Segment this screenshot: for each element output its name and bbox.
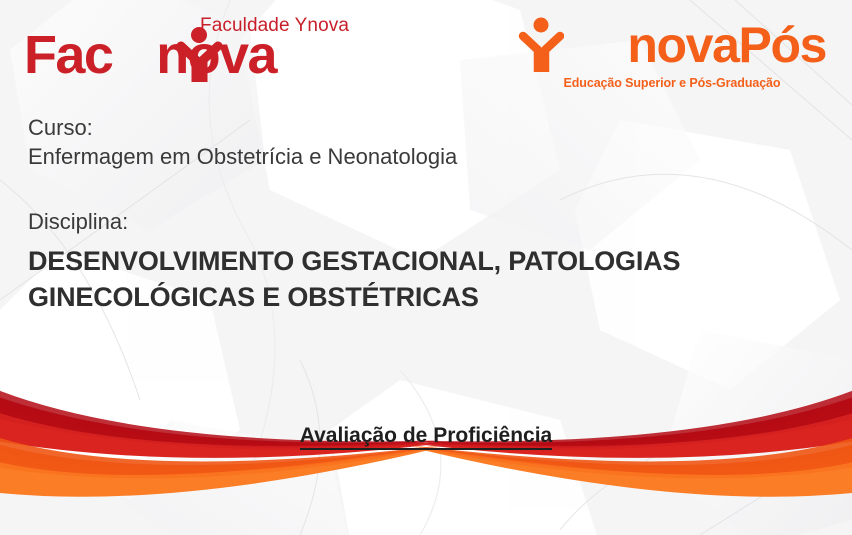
page-header: Faculdade Ynova Facnova novaPós Educação… [0,0,852,104]
exam-info-block: Curso: Enfermagem em Obstetrícia e Neona… [28,113,818,315]
person-y-icon [176,26,222,82]
bottom-banner: Avaliação de Proficiência [0,380,852,535]
discipline-block: Disciplina: DESENVOLVIMENTO GESTACIONAL,… [28,207,818,315]
ynovapos-logo: novaPós Educação Superior e Pós-Graduaçã… [518,10,826,96]
discipline-name: DESENVOLVIMENTO GESTACIONAL, PATOLOGIAS … [28,244,818,315]
facynova-wordmark-prefix: Fac [24,25,112,85]
facynova-wordmark: Facnova [24,28,276,82]
course-block: Curso: Enfermagem em Obstetrícia e Neona… [28,113,818,171]
course-name: Enfermagem em Obstetrícia e Neonatologia [28,142,818,171]
exam-cover-page: Faculdade Ynova Facnova novaPós Educação… [0,0,852,535]
facynova-logo: Faculdade Ynova Facnova [24,10,384,96]
banner-title-text: Avaliação de Proficiência [300,424,553,450]
course-label: Curso: [28,113,818,142]
discipline-label: Disciplina: [28,207,818,236]
ynovapos-tagline: Educação Superior e Pós-Graduação [518,76,826,90]
ynovapos-wordmark: novaPós [518,20,826,70]
banner-title: Avaliação de Proficiência [0,424,852,448]
